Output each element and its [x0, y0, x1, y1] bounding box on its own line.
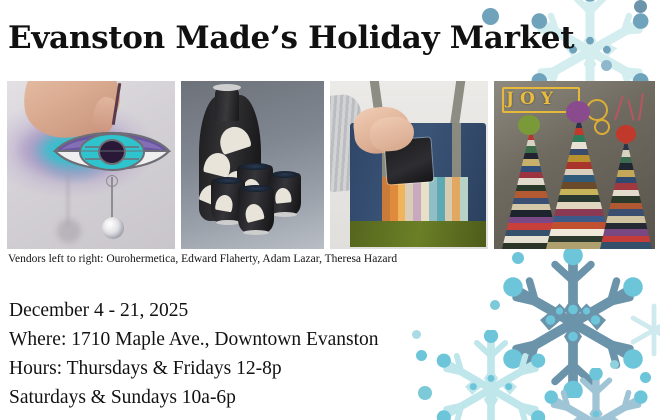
photo4-pom-pom-right [616, 125, 636, 143]
photo2-bottle-neck [215, 87, 239, 121]
vendor-photo-edward-flaherty [181, 81, 324, 249]
decor-dot-8 [610, 360, 619, 369]
photo2-cup-rim [214, 177, 243, 184]
photo3-tote-base [350, 221, 486, 247]
photo2-cup-foot [273, 212, 296, 217]
photo1-crystal-drop [102, 217, 124, 239]
photo2-cup-leaf [243, 202, 265, 223]
vendor-photo-adam-lazar [330, 81, 488, 249]
photo2-cup-leaf [215, 194, 235, 213]
decor-dot-3 [601, 60, 612, 71]
photo2-cup-leaf [274, 187, 291, 204]
photo4-gold-scroll [594, 119, 610, 135]
photo4-pom-pom-left [518, 115, 540, 135]
page-title: Evanston Made’s Holiday Market [8, 20, 574, 56]
decor-dot-5 [418, 386, 432, 400]
snowflake-small-right [624, 300, 660, 360]
decor-dot-4 [416, 350, 427, 361]
photo4-fabric-band [600, 242, 652, 249]
decor-dot-6 [490, 300, 500, 310]
event-hours-weekend: Saturdays & Sundays 10a-6p [9, 383, 379, 412]
photo2-cup-rim [241, 185, 271, 192]
snowflake-large-dark [498, 248, 648, 398]
decor-dot-9 [412, 330, 421, 339]
event-hours-weekday: Hours: Thursdays & Fridays 12-8p [9, 354, 379, 383]
decor-dot-10 [512, 252, 524, 264]
photo2-cup-foot [243, 230, 269, 235]
photo2-cup-foot [216, 220, 240, 225]
photo2-sake-cup [238, 187, 274, 233]
snowflake-pale-lower-left [432, 330, 550, 420]
event-details: December 4 - 21, 2025 Where: 1710 Maple … [9, 296, 379, 412]
vendor-photo-ourohermetica [7, 81, 175, 249]
photo1-stained-glass-eye [53, 125, 171, 177]
vendor-photo-strip: JOY [7, 81, 655, 249]
vendor-photo-theresa-hazard: JOY [494, 81, 655, 249]
vendor-caption: Vendors left to right: Ourohermetica, Ed… [8, 253, 397, 265]
snowflake-mid-bottom [540, 368, 652, 420]
photo4-pom-pom-middle [566, 101, 590, 123]
photo1-pendant-chain [111, 177, 113, 219]
event-dates: December 4 - 21, 2025 [9, 296, 379, 325]
photo1-blurred-crystal [57, 219, 81, 243]
photo2-cup-rim [240, 163, 270, 170]
decor-dot-7 [640, 372, 651, 383]
photo2-bottle-lip [213, 84, 241, 91]
decor-dot-2 [634, 0, 647, 13]
photo2-cup-rim [272, 171, 299, 178]
photo1-blurred-chain [67, 173, 69, 225]
event-location: Where: 1710 Maple Ave., Downtown Evansto… [9, 325, 379, 354]
holiday-market-poster: Evanston Made’s Holiday Market [0, 0, 660, 420]
